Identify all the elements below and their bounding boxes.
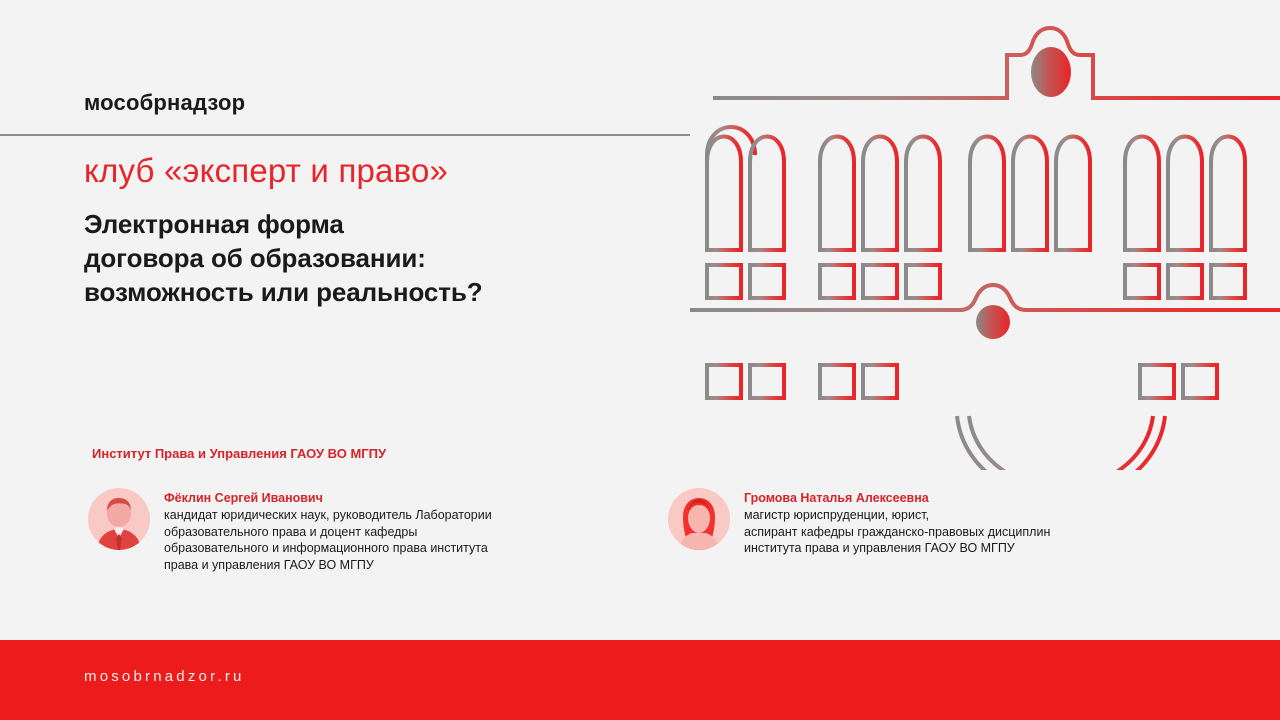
speaker-name: Громова Наталья Алексеевна [744, 490, 1050, 506]
speaker-info-left: Фёклин Сергей Иванович кандидат юридичес… [164, 488, 492, 573]
speaker-role-line-2: аспирант кафедры гражданско-правовых дис… [744, 524, 1050, 541]
speaker-role: магистр юриспруденции, юрист, аспирант к… [744, 507, 1050, 557]
speaker-role-line-3: института права и управления ГАОУ ВО МГП… [744, 540, 1050, 557]
speaker-card-left: Фёклин Сергей Иванович кандидат юридичес… [88, 488, 628, 573]
slide-title-line-2: договора об образовании: [84, 241, 483, 275]
slide-title: Электронная форма договора об образовани… [84, 207, 483, 309]
speaker-role-line-2: образовательного права и доцент кафедры [164, 524, 492, 541]
speaker-card-right: Громова Наталья Алексеевна магистр юрисп… [668, 488, 1188, 557]
header-divider [0, 134, 690, 136]
avatar-feklin [88, 488, 150, 550]
avatar-gromova [668, 488, 730, 550]
speaker-role: кандидат юридических наук, руководитель … [164, 507, 492, 573]
speaker-role-line-3: образовательного и информационного права… [164, 540, 492, 557]
speaker-role-line-1: кандидат юридических наук, руководитель … [164, 507, 492, 524]
speaker-role-line-1: магистр юриспруденции, юрист, [744, 507, 1050, 524]
footer-url: mosobrnadzor.ru [84, 668, 245, 685]
brand-logo: мособрнадзор [84, 90, 245, 116]
slide-title-line-3: возможность или реальность? [84, 275, 483, 309]
pediment-oval-ornament [1031, 47, 1071, 97]
slide-title-line-1: Электронная форма [84, 207, 483, 241]
facade-circle-ornament [976, 305, 1010, 339]
speaker-name: Фёклин Сергей Иванович [164, 490, 492, 506]
speaker-role-line-4: права и управления ГАОУ ВО МГПУ [164, 557, 492, 574]
club-title: клуб «эксперт и право» [84, 152, 448, 190]
government-building-illustration [685, 0, 1280, 470]
speaker-info-right: Громова Наталья Алексеевна магистр юрисп… [744, 488, 1050, 557]
institute-label: Институт Права и Управления ГАОУ ВО МГПУ [92, 446, 386, 461]
